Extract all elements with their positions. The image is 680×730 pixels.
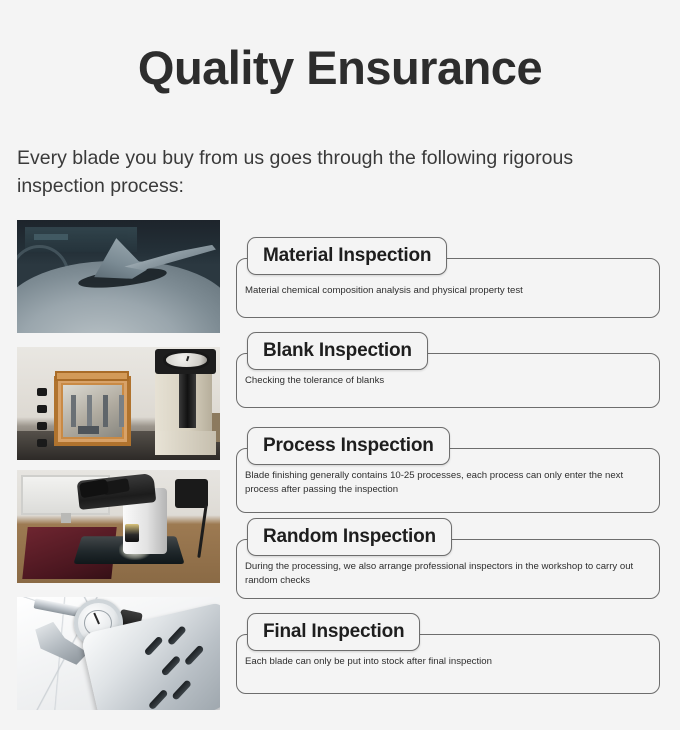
blade-slot xyxy=(144,636,164,657)
step-label-badge[interactable]: Final Inspection xyxy=(247,613,420,651)
page-subtitle: Every blade you buy from us goes through… xyxy=(17,144,665,201)
page-title: Quality Ensurance xyxy=(0,42,680,94)
blade-slot xyxy=(167,625,187,646)
wall-knobs xyxy=(37,388,53,433)
step-description: During the processing, we also arrange p… xyxy=(245,560,651,588)
step-label: Material Inspection xyxy=(263,245,431,267)
step-description: Blade finishing generally contains 10-25… xyxy=(245,469,651,497)
photo-microscope xyxy=(17,470,220,583)
blade-slot xyxy=(148,689,169,710)
tester-dial-gauge-icon xyxy=(163,350,210,369)
step-label-badge[interactable]: Random Inspection xyxy=(247,518,452,556)
cabinet-glass xyxy=(63,385,122,437)
tester-column xyxy=(179,374,195,428)
step-description: Checking the tolerance of blanks xyxy=(245,374,651,388)
step-label: Final Inspection xyxy=(263,621,404,643)
quality-assurance-page: Quality Ensurance Every blade you buy fr… xyxy=(0,0,680,730)
cabinet-top xyxy=(55,371,130,381)
tester-base xyxy=(155,431,216,456)
microscope-arm xyxy=(175,479,207,508)
step-label-badge[interactable]: Blank Inspection xyxy=(247,332,428,370)
step-label: Blank Inspection xyxy=(263,340,412,362)
step-label-badge[interactable]: Material Inspection xyxy=(247,237,447,275)
photo-material-powder xyxy=(17,220,220,333)
step-label-badge[interactable]: Process Inspection xyxy=(247,427,450,465)
step-label: Process Inspection xyxy=(263,435,434,457)
blade-slot xyxy=(171,679,192,701)
photo-caliper-blade xyxy=(17,597,220,710)
step-label: Random Inspection xyxy=(263,526,436,548)
blade-slot xyxy=(184,644,205,666)
microscope-objective-lens xyxy=(125,524,139,542)
photo-hardness-tester xyxy=(17,347,220,460)
display-cabinet xyxy=(54,376,131,446)
blade-slot xyxy=(161,655,182,677)
step-description: Each blade can only be put into stock af… xyxy=(245,655,651,669)
step-description: Material chemical composition analysis a… xyxy=(245,284,651,298)
